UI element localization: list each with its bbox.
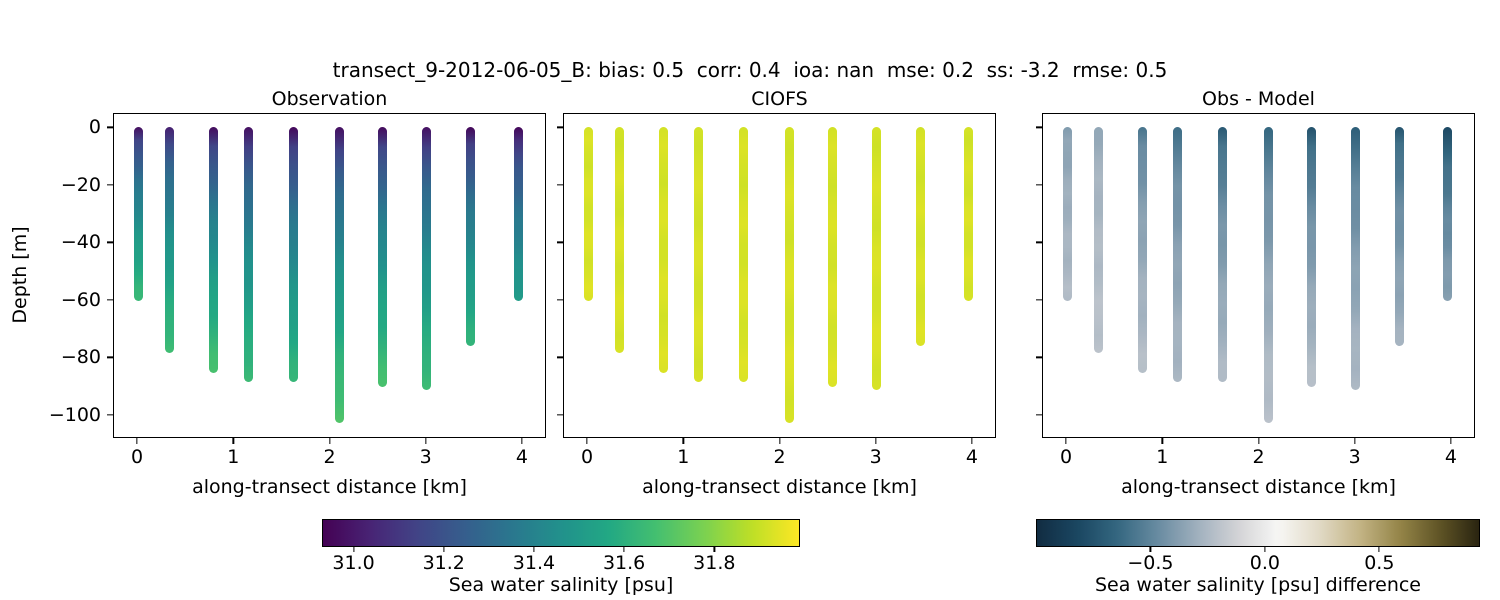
cast-profile: [1094, 127, 1103, 353]
x-tick-mark: [233, 438, 234, 444]
x-tick-mark: [683, 438, 684, 444]
y-tick-mark: [557, 357, 563, 358]
x-tick-label: 1: [653, 446, 713, 468]
y-tick-mark: [107, 414, 113, 415]
x-axis-label-observation: along-transect distance [km]: [113, 476, 546, 498]
colorbar-tick-label: 31.8: [669, 552, 759, 574]
x-tick-mark: [586, 438, 587, 444]
cast-profile: [659, 127, 668, 373]
y-tick-label: −20: [13, 174, 101, 196]
colorbar-tick-label: 31.6: [579, 552, 669, 574]
panel-title-obs-model: Obs - Model: [1042, 88, 1475, 110]
y-tick-mark: [1036, 357, 1042, 358]
y-tick-mark: [1036, 184, 1042, 185]
plot-panel-ciofs[interactable]: [563, 113, 996, 438]
x-tick-mark: [971, 438, 972, 444]
cast-profile: [1307, 127, 1316, 387]
colorbar-tick-label: 31.0: [309, 552, 399, 574]
cast-profile: [1138, 127, 1147, 373]
y-tick-mark: [1036, 242, 1042, 243]
cast-profile: [872, 127, 881, 390]
x-tick-mark: [521, 438, 522, 444]
x-tick-label: 4: [942, 446, 1002, 468]
panel-title-ciofs: CIOFS: [563, 88, 996, 110]
x-axis-label-ciofs: along-transect distance [km]: [563, 476, 996, 498]
y-tick-mark: [557, 242, 563, 243]
cast-profile: [785, 127, 794, 423]
cast-profile: [615, 127, 624, 353]
x-tick-label: 3: [1325, 446, 1385, 468]
x-tick-mark: [329, 438, 330, 444]
y-tick-mark: [557, 184, 563, 185]
colorbar-label-salinity: Sea water salinity [psu]: [322, 574, 800, 596]
cast-profile: [694, 127, 703, 382]
cast-profile: [378, 127, 387, 387]
x-tick-label: 4: [492, 446, 552, 468]
cast-profile: [1063, 127, 1072, 301]
x-tick-mark: [779, 438, 780, 444]
x-tick-label: 1: [1132, 446, 1192, 468]
y-tick-label: −100: [13, 404, 101, 426]
x-tick-mark: [1258, 438, 1259, 444]
y-tick-mark: [1036, 127, 1042, 128]
cast-profile: [165, 127, 174, 353]
title-line-metrics: transect_9-2012-06-05_B: bias: 0.5 corr:…: [0, 58, 1500, 83]
y-tick-label: 0: [13, 116, 101, 138]
colorbar-salinity[interactable]: [322, 519, 800, 547]
x-axis-label-obs-model: along-transect distance [km]: [1042, 476, 1475, 498]
cast-profile: [244, 127, 253, 382]
cast-profile: [1173, 127, 1182, 382]
cast-profile: [514, 127, 523, 301]
cast-profile: [335, 127, 344, 423]
x-tick-label: 2: [300, 446, 360, 468]
x-tick-label: 0: [107, 446, 167, 468]
cast-profile: [1443, 127, 1452, 301]
y-tick-mark: [557, 127, 563, 128]
y-axis-label: Depth [m]: [9, 200, 31, 350]
colorbar-label-salinity-difference: Sea water salinity [psu] difference: [1036, 574, 1480, 596]
y-tick-mark: [107, 184, 113, 185]
x-tick-label: 3: [396, 446, 456, 468]
cast-profile: [584, 127, 593, 301]
colorbar-tick-label: 0.5: [1334, 552, 1424, 574]
cast-profile: [466, 127, 475, 346]
cast-profile: [209, 127, 218, 373]
x-tick-mark: [1450, 438, 1451, 444]
y-tick-mark: [107, 242, 113, 243]
x-tick-label: 0: [1036, 446, 1096, 468]
colorbar-tick-label: −0.5: [1105, 552, 1195, 574]
plot-panel-observation[interactable]: [113, 113, 546, 438]
cast-profile: [422, 127, 431, 390]
x-tick-mark: [1354, 438, 1355, 444]
y-tick-mark: [557, 414, 563, 415]
y-tick-mark: [107, 299, 113, 300]
y-tick-mark: [557, 299, 563, 300]
x-tick-mark: [875, 438, 876, 444]
cast-profile: [916, 127, 925, 346]
colorbar-tick-label: 0.0: [1220, 552, 1310, 574]
cast-profile: [289, 127, 298, 382]
cast-profile: [964, 127, 973, 301]
cast-profile: [739, 127, 748, 382]
figure-root: transect_9-2012-06-05_B: bias: 0.5 corr:…: [0, 0, 1500, 600]
x-tick-mark: [1162, 438, 1163, 444]
cast-profile: [1264, 127, 1273, 423]
plot-panel-obs-model[interactable]: [1042, 113, 1475, 438]
y-tick-mark: [107, 127, 113, 128]
x-tick-label: 2: [1229, 446, 1289, 468]
x-tick-label: 1: [203, 446, 263, 468]
colorbar-tick-label: 31.2: [399, 552, 489, 574]
panel-title-observation: Observation: [113, 88, 546, 110]
cast-profile: [1218, 127, 1227, 382]
y-tick-mark: [1036, 414, 1042, 415]
cast-profile: [1351, 127, 1360, 390]
cast-profile: [134, 127, 143, 301]
x-tick-mark: [425, 438, 426, 444]
colorbar-tick-label: 31.4: [489, 552, 579, 574]
y-tick-mark: [107, 357, 113, 358]
cast-profile: [1395, 127, 1404, 346]
x-tick-mark: [136, 438, 137, 444]
x-tick-label: 4: [1421, 446, 1481, 468]
x-tick-label: 3: [846, 446, 906, 468]
colorbar-salinity-difference[interactable]: [1036, 519, 1480, 547]
x-tick-label: 0: [557, 446, 617, 468]
x-tick-mark: [1065, 438, 1066, 444]
cast-profile: [828, 127, 837, 387]
y-tick-mark: [1036, 299, 1042, 300]
x-tick-label: 2: [750, 446, 810, 468]
